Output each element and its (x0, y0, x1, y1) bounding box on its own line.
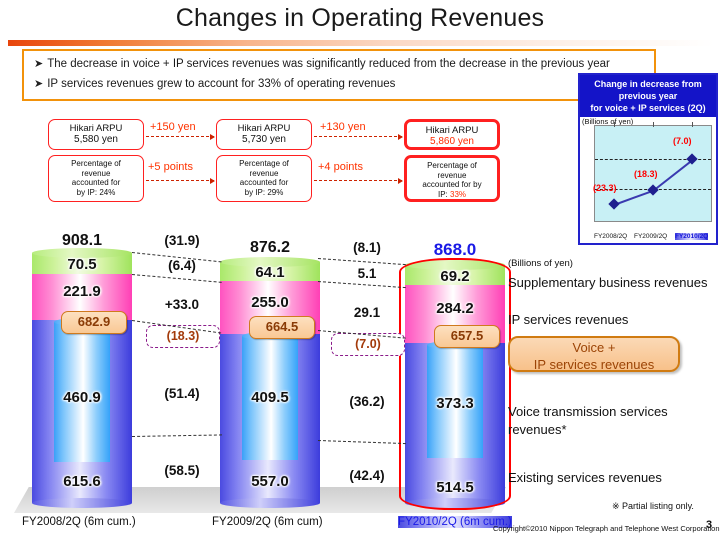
bar-2-value-existing: 557.0 (220, 473, 320, 490)
bar-3-bottom-cap (405, 498, 505, 508)
arpu-arrow-1 (146, 136, 214, 137)
gap-1-voice: (51.4) (139, 386, 225, 401)
bar-1-voice-plus-ip-pill: 682.9 (61, 311, 127, 334)
arpu-box-2-label: Hikari ARPU (217, 123, 311, 134)
bar-1-value-ip: 221.9 (32, 283, 132, 300)
arpu-box-1-value: 5,580 yen (49, 134, 143, 146)
ip-pct-box-2-label: Percentage ofrevenueaccounted forby IP: … (217, 159, 311, 197)
legend-voice-cont: revenues* (508, 422, 567, 438)
bar-2-value-supplementary: 64.1 (220, 264, 320, 281)
footnote: ※ Partial listing only. (612, 501, 694, 512)
bar-3-value-supplementary: 69.2 (405, 268, 505, 285)
bar-1-bottom-cap (32, 498, 132, 508)
gap-2-voice: (36.2) (324, 394, 410, 409)
bar-2-value-ip: 255.0 (220, 294, 320, 311)
ip-pct-box-2: Percentage ofrevenueaccounted forby IP: … (216, 155, 312, 202)
inset-xlabel-1: FY2008/2Q (594, 233, 627, 240)
arpu-box-3-value: 5,860 yen (407, 136, 497, 148)
inset-chart-title: Change in decrease from previous year fo… (580, 75, 716, 117)
bullet-arrow-icon: ➤ (34, 78, 43, 90)
bar-2-value-voice: 409.5 (220, 389, 320, 406)
bullet-text-1: The decrease in voice + IP services reve… (47, 58, 610, 70)
gap-1-connector-voice (132, 434, 222, 437)
ip-pct-box-3-label: Percentage ofrevenueaccounted for byIP: … (407, 161, 497, 199)
inset-tick-2 (653, 122, 654, 127)
inset-tick-1 (614, 122, 615, 127)
ip-pct-arrow-1 (146, 180, 214, 181)
inset-xlabel-3: FY2010/2Q (675, 233, 708, 240)
x-axis-label-2: FY2009/2Q (6m cum) (212, 516, 323, 528)
arpu-delta-1: +150 yen (150, 121, 196, 133)
legend-supplementary: Supplementary business revenues (508, 275, 707, 291)
ip-pct-arrow-2 (314, 180, 402, 181)
legend-voice-plus-ip-pill: Voice + IP services revenues (508, 336, 680, 372)
bar-2-voice-plus-ip-pill: 664.5 (249, 316, 315, 339)
bar-2-bottom-cap (220, 498, 320, 508)
slide-canvas: Changes in Operating Revenues ➤The decre… (0, 0, 720, 540)
arpu-box-2-value: 5,730 yen (217, 134, 311, 146)
x-axis-label-1: FY2008/2Q (6m cum.) (22, 516, 136, 528)
inset-point-label-2: (18.3) (634, 169, 658, 179)
gap-1-voice-plus-ip-box: (18.3) (146, 325, 220, 348)
legend-pill-line-1: Voice + (510, 339, 678, 356)
ip-pct-delta-2: +4 points (318, 161, 363, 173)
legend-existing: Existing services revenues (508, 470, 662, 486)
bar-3-voice-plus-ip-pill: 657.5 (434, 325, 500, 348)
gap-2-ip: 29.1 (324, 305, 410, 320)
bar-2-total: 876.2 (215, 239, 325, 257)
inset-tick-3 (692, 122, 693, 127)
inset-xlabel-2: FY2009/2Q (634, 233, 667, 240)
bar-3-value-ip: 284.2 (405, 300, 505, 317)
legend-voice: Voice transmission services (508, 404, 668, 420)
page-number: 3 (706, 519, 712, 531)
legend-unit-label: (Billions of yen) (508, 258, 573, 269)
gap-1-ip: +33.0 (139, 297, 225, 312)
inset-point-label-3: (7.0) (673, 136, 692, 146)
ip-pct-box-1-value: 24% (99, 188, 115, 197)
inset-chart: Change in decrease from previous year fo… (578, 73, 718, 245)
gap-2-connector-supplementary (318, 281, 406, 288)
legend-ip: IP services revenues (508, 312, 628, 328)
inset-title-line-3: for voice + IP services (2Q) (581, 102, 715, 114)
copyright-notice: Copyright©2010 Nippon Telegraph and Tele… (493, 524, 720, 533)
gap-1-existing: (58.5) (139, 463, 225, 478)
bullet-item-1: ➤The decrease in voice + IP services rev… (34, 57, 610, 70)
page-title: Changes in Operating Revenues (0, 4, 720, 33)
gap-2-connector-total (318, 258, 406, 265)
bar-1-value-supplementary: 70.5 (32, 256, 132, 273)
bar-1-value-voice: 460.9 (32, 389, 132, 406)
arpu-box-1-label: Hikari ARPU (49, 123, 143, 134)
ip-pct-box-1: Percentage ofrevenueaccounted forby IP: … (48, 155, 144, 202)
bar-3-value-voice: 373.3 (405, 395, 505, 412)
gap-1-total: (31.9) (139, 233, 225, 248)
arpu-arrow-2 (314, 136, 402, 137)
bullet-box: ➤The decrease in voice + IP services rev… (22, 49, 656, 101)
gap-1-connector-supplementary (132, 274, 222, 283)
bullet-text-2: IP services revenues grew to account for… (47, 78, 395, 90)
title-divider (8, 40, 714, 46)
ip-pct-box-2-value: 29% (267, 188, 283, 197)
arpu-box-3-label: Hikari ARPU (407, 125, 497, 136)
bar-3-value-existing: 514.5 (405, 479, 505, 496)
ip-pct-box-1-label: Percentage ofrevenueaccounted forby IP: … (49, 159, 143, 197)
inset-point-1 (608, 198, 619, 209)
gap-2-existing: (42.4) (324, 468, 410, 483)
gap-2-total: (8.1) (324, 240, 410, 255)
legend-pill-line-2: IP services revenues (510, 356, 678, 373)
ip-pct-delta-1: +5 points (148, 161, 193, 173)
bullet-item-2: ➤IP services revenues grew to account fo… (34, 77, 395, 90)
bar-1-total: 908.1 (27, 232, 137, 250)
bullet-arrow-icon: ➤ (34, 58, 43, 70)
inset-title-line-2: previous year (581, 90, 715, 102)
gap-2-connector-voice (318, 440, 406, 444)
arpu-delta-2: +130 yen (320, 121, 366, 133)
ip-pct-box-3-value: 33% (450, 190, 466, 199)
arpu-box-1: Hikari ARPU 5,580 yen (48, 119, 144, 150)
inset-point-label-1: (23.3) (593, 183, 617, 193)
inset-plot-area: (23.3) (18.3) (7.0) (594, 125, 712, 222)
inset-title-line-1: Change in decrease from (581, 78, 715, 90)
ip-pct-box-3: Percentage ofrevenueaccounted for byIP: … (404, 155, 500, 202)
arpu-box-2: Hikari ARPU 5,730 yen (216, 119, 312, 150)
bar-3-total: 868.0 (400, 240, 510, 260)
inset-line-segment-2 (652, 159, 693, 191)
bar-1-value-existing: 615.6 (32, 473, 132, 490)
gap-2-supplementary: 5.1 (324, 266, 410, 281)
arpu-box-3: Hikari ARPU 5,860 yen (404, 119, 500, 150)
